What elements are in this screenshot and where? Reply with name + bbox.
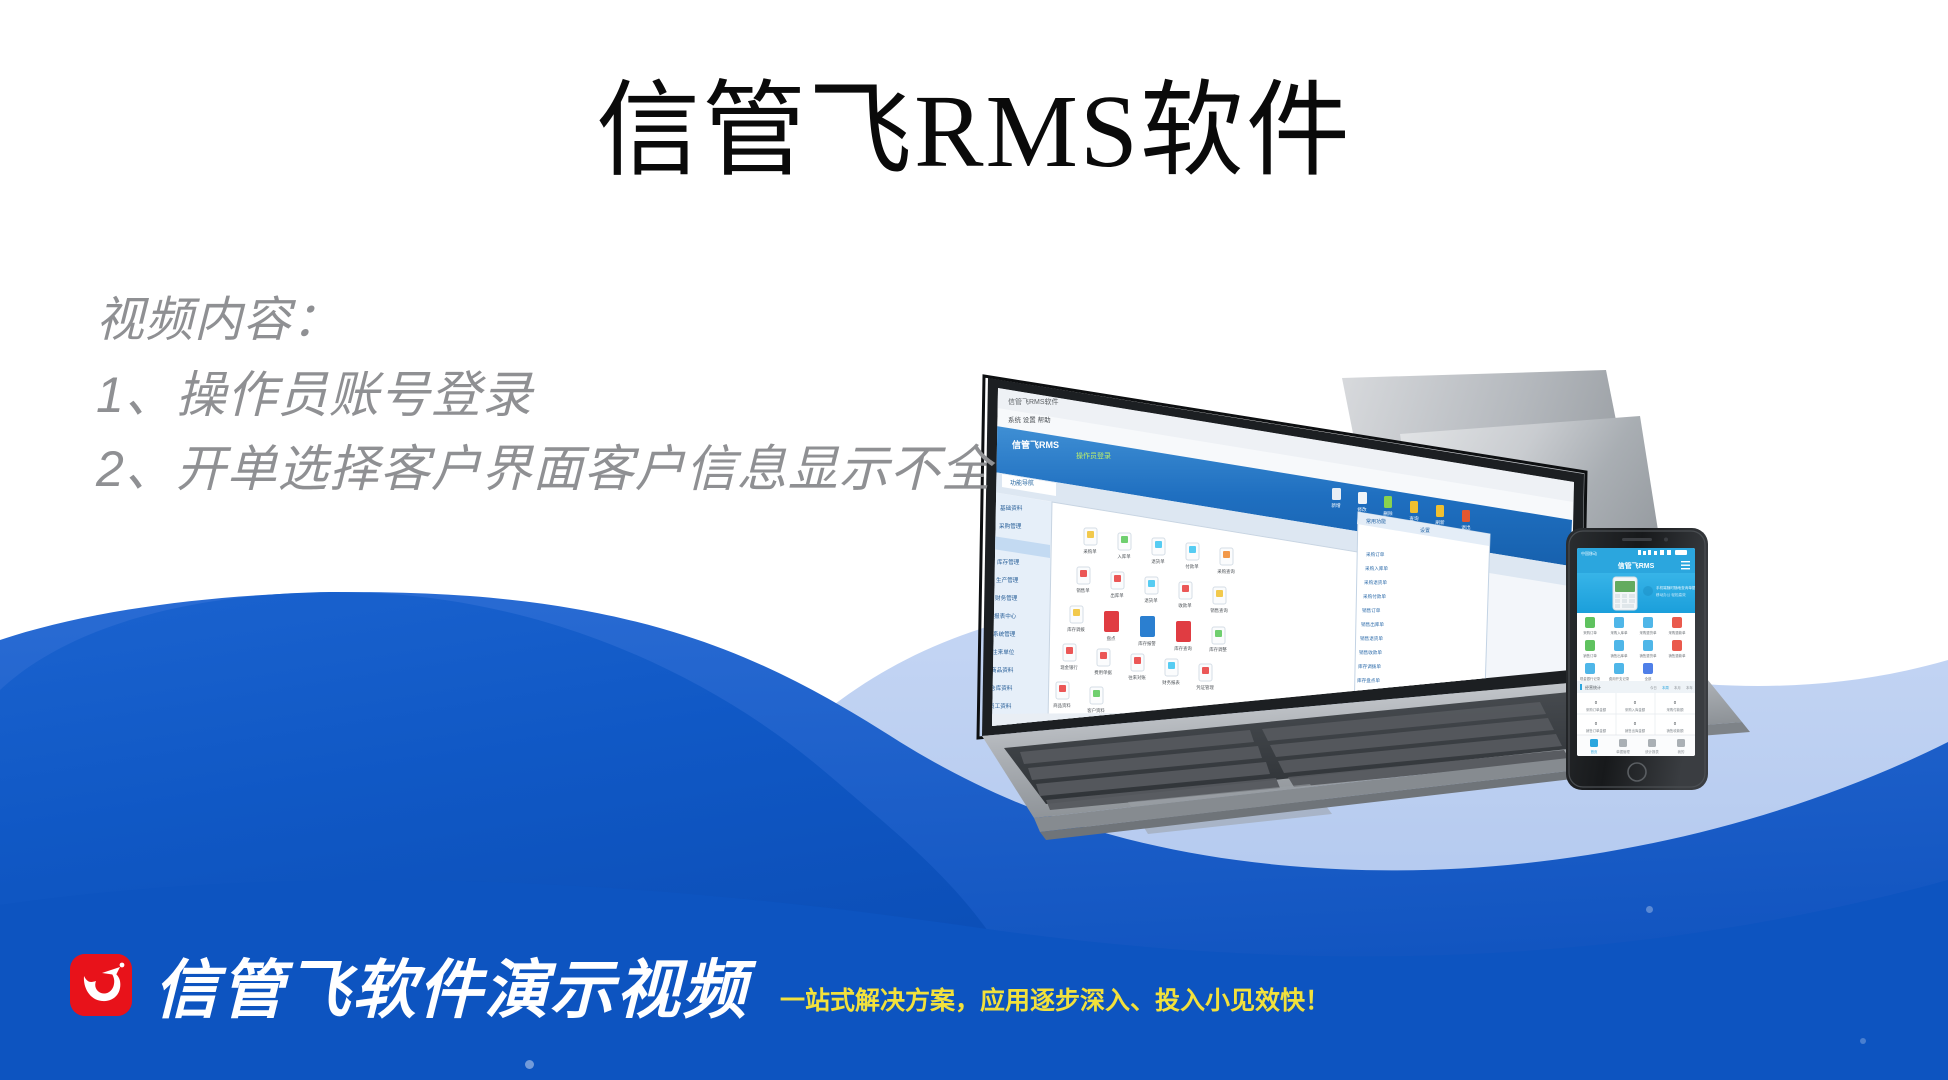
svg-text:操作员登录: 操作员登录: [1076, 451, 1111, 460]
svg-text:单据管理: 单据管理: [1616, 749, 1630, 754]
svg-text:采购入库金额: 采购入库金额: [1625, 707, 1646, 712]
svg-text:信管飞RMS: 信管飞RMS: [1012, 439, 1059, 450]
svg-text:凭证管理: 凭证管理: [1196, 684, 1214, 691]
video-content-list: 视频内容： 1、操作员账号登录 2、开单选择客户界面客户信息显示不全: [96, 284, 992, 506]
svg-text:采购退货单: 采购退货单: [1640, 630, 1658, 635]
svg-text:常用功能: 常用功能: [1366, 518, 1386, 525]
svg-text:新增: 新增: [1331, 502, 1341, 509]
svg-text:信管飞RMS软件: 信管飞RMS软件: [1008, 397, 1059, 406]
svg-text:客户资料: 客户资料: [1087, 707, 1105, 714]
svg-text:入库单: 入库单: [1117, 553, 1131, 560]
svg-text:销售出库单: 销售出库单: [1361, 621, 1384, 628]
hamburger-menu-icon[interactable]: [1681, 561, 1690, 569]
svg-text:今日: 今日: [1650, 685, 1657, 690]
presentation-slide: 信管飞RMS软件 系统 设置 帮助 信管飞RMS 操作员登录 功能导航 基础资料…: [0, 0, 1948, 1080]
content-heading: 视频内容：: [96, 284, 992, 358]
svg-text:销售查询: 销售查询: [1210, 607, 1228, 614]
svg-text:中国移动: 中国移动: [1581, 550, 1597, 556]
svg-text:系统 设置 帮助: 系统 设置 帮助: [1008, 415, 1051, 424]
svg-text:出库单: 出库单: [1110, 592, 1124, 599]
svg-text:往来对账: 往来对账: [1128, 674, 1146, 681]
svg-text:仓库资料: 仓库资料: [990, 684, 1013, 692]
svg-text:统计报表: 统计报表: [1645, 749, 1659, 754]
svg-text:销售退款单: 销售退款单: [1669, 653, 1687, 658]
svg-text:销售收款额: 销售收款额: [1667, 728, 1685, 733]
svg-text:采购管理: 采购管理: [999, 522, 1022, 530]
xinguanfei-bird-logo-icon: [70, 954, 132, 1016]
svg-text:费用单据: 费用单据: [1094, 669, 1112, 676]
svg-text:系统管理: 系统管理: [993, 630, 1016, 638]
decorative-dot: [525, 1060, 534, 1069]
svg-text:销售收款单: 销售收款单: [1359, 649, 1382, 656]
svg-text:采购入库单: 采购入库单: [1365, 565, 1388, 572]
svg-text:库存调拨: 库存调拨: [1067, 626, 1085, 633]
svg-text:付款单: 付款单: [1185, 563, 1199, 570]
svg-text:采购订单: 采购订单: [1583, 630, 1597, 635]
page-title: 信管飞RMS软件: [0, 72, 1948, 193]
svg-text:销售单: 销售单: [1076, 587, 1090, 594]
svg-text:首页: 首页: [1591, 749, 1598, 754]
svg-text:采购单: 采购单: [1083, 548, 1097, 555]
svg-text:功能导航: 功能导航: [1010, 479, 1034, 487]
svg-text:手机端随时随地查询单据: 手机端随时随地查询单据: [1656, 585, 1696, 590]
svg-text:采购退款单: 采购退款单: [1669, 630, 1687, 635]
smartphone-mobile-app: 中国移动 信管飞RMS: [1566, 528, 1708, 790]
svg-text:商品资料: 商品资料: [991, 666, 1014, 674]
svg-text:本周: 本周: [1662, 685, 1669, 690]
svg-text:设置: 设置: [1420, 527, 1430, 534]
svg-text:退货单: 退货单: [1151, 558, 1165, 565]
svg-text:采购查询: 采购查询: [1217, 568, 1235, 575]
svg-text:往来单位: 往来单位: [992, 648, 1015, 656]
svg-text:现金银行: 现金银行: [1060, 664, 1078, 671]
svg-text:库存调整: 库存调整: [1209, 646, 1227, 653]
svg-text:基础资料: 基础资料: [1000, 504, 1023, 512]
brand-tagline: 一站式解决方案，应用逐步深入、投入小见效快！: [780, 989, 1330, 1014]
footer-branding: 信管飞软件演示视频 一站式解决方案，应用逐步深入、投入小见效快！: [70, 954, 1330, 1022]
svg-text:移动办公 轻松高效: 移动办公 轻松高效: [1656, 592, 1686, 597]
svg-text:商品资料: 商品资料: [1053, 702, 1071, 709]
svg-text:我的: 我的: [1678, 749, 1685, 754]
svg-text:经营统计: 经营统计: [1585, 684, 1601, 690]
svg-text:销售退货单: 销售退货单: [1640, 653, 1658, 658]
svg-text:销售订单金额: 销售订单金额: [1586, 728, 1607, 733]
svg-text:库存管理: 库存管理: [997, 558, 1020, 566]
svg-text:销售出库单: 销售出库单: [1611, 653, 1629, 658]
svg-text:库存调拨单: 库存调拨单: [1358, 663, 1381, 670]
device-mockup-group: 信管飞RMS软件 系统 设置 帮助 信管飞RMS 操作员登录 功能导航 基础资料…: [880, 370, 1948, 950]
svg-text:退货单: 退货单: [1144, 597, 1158, 604]
svg-text:采购订单金额: 采购订单金额: [1586, 707, 1607, 712]
decorative-dot: [1860, 1038, 1866, 1044]
svg-text:报表中心: 报表中心: [994, 612, 1017, 620]
svg-text:信管飞RMS: 信管飞RMS: [1618, 561, 1655, 570]
svg-text:销售出库金额: 销售出库金额: [1625, 728, 1646, 733]
svg-text:库存盘点单: 库存盘点单: [1357, 677, 1380, 684]
svg-text:本月: 本月: [1674, 685, 1681, 690]
svg-text:采购入库单: 采购入库单: [1611, 630, 1629, 635]
svg-text:采购付款单: 采购付款单: [1363, 593, 1386, 600]
svg-text:全部: 全部: [1645, 676, 1652, 681]
svg-text:销售订单: 销售订单: [1362, 607, 1381, 614]
svg-text:财务管理: 财务管理: [995, 594, 1018, 602]
brand-name: 信管飞软件演示视频: [154, 958, 748, 1022]
svg-text:员工资料: 员工资料: [989, 702, 1012, 710]
svg-text:现金银行记录: 现金银行记录: [1580, 676, 1601, 681]
svg-text:库存报警: 库存报警: [1138, 640, 1156, 647]
svg-text:采购退货单: 采购退货单: [1364, 579, 1387, 586]
svg-text:本年: 本年: [1686, 685, 1693, 690]
svg-text:采购付款额: 采购付款额: [1667, 707, 1685, 712]
svg-text:库存查询: 库存查询: [1174, 645, 1192, 652]
decorative-dot: [1646, 906, 1653, 913]
svg-text:生产管理: 生产管理: [996, 576, 1019, 584]
svg-text:删除: 删除: [1383, 510, 1393, 517]
svg-text:销售订单: 销售订单: [1583, 653, 1597, 658]
svg-text:盘点: 盘点: [1107, 635, 1116, 642]
svg-text:财务报表: 财务报表: [1162, 679, 1180, 686]
content-item-2: 2、开单选择客户界面客户信息显示不全: [96, 432, 992, 506]
svg-text:收款单: 收款单: [1178, 602, 1192, 609]
content-item-1: 1、操作员账号登录: [96, 358, 992, 432]
svg-text:销售退货单: 销售退货单: [1360, 635, 1383, 642]
svg-text:费用开支记录: 费用开支记录: [1609, 676, 1630, 681]
svg-text:采购订单: 采购订单: [1366, 551, 1385, 558]
phone-screen-content: 中国移动 信管飞RMS: [1577, 548, 1696, 756]
